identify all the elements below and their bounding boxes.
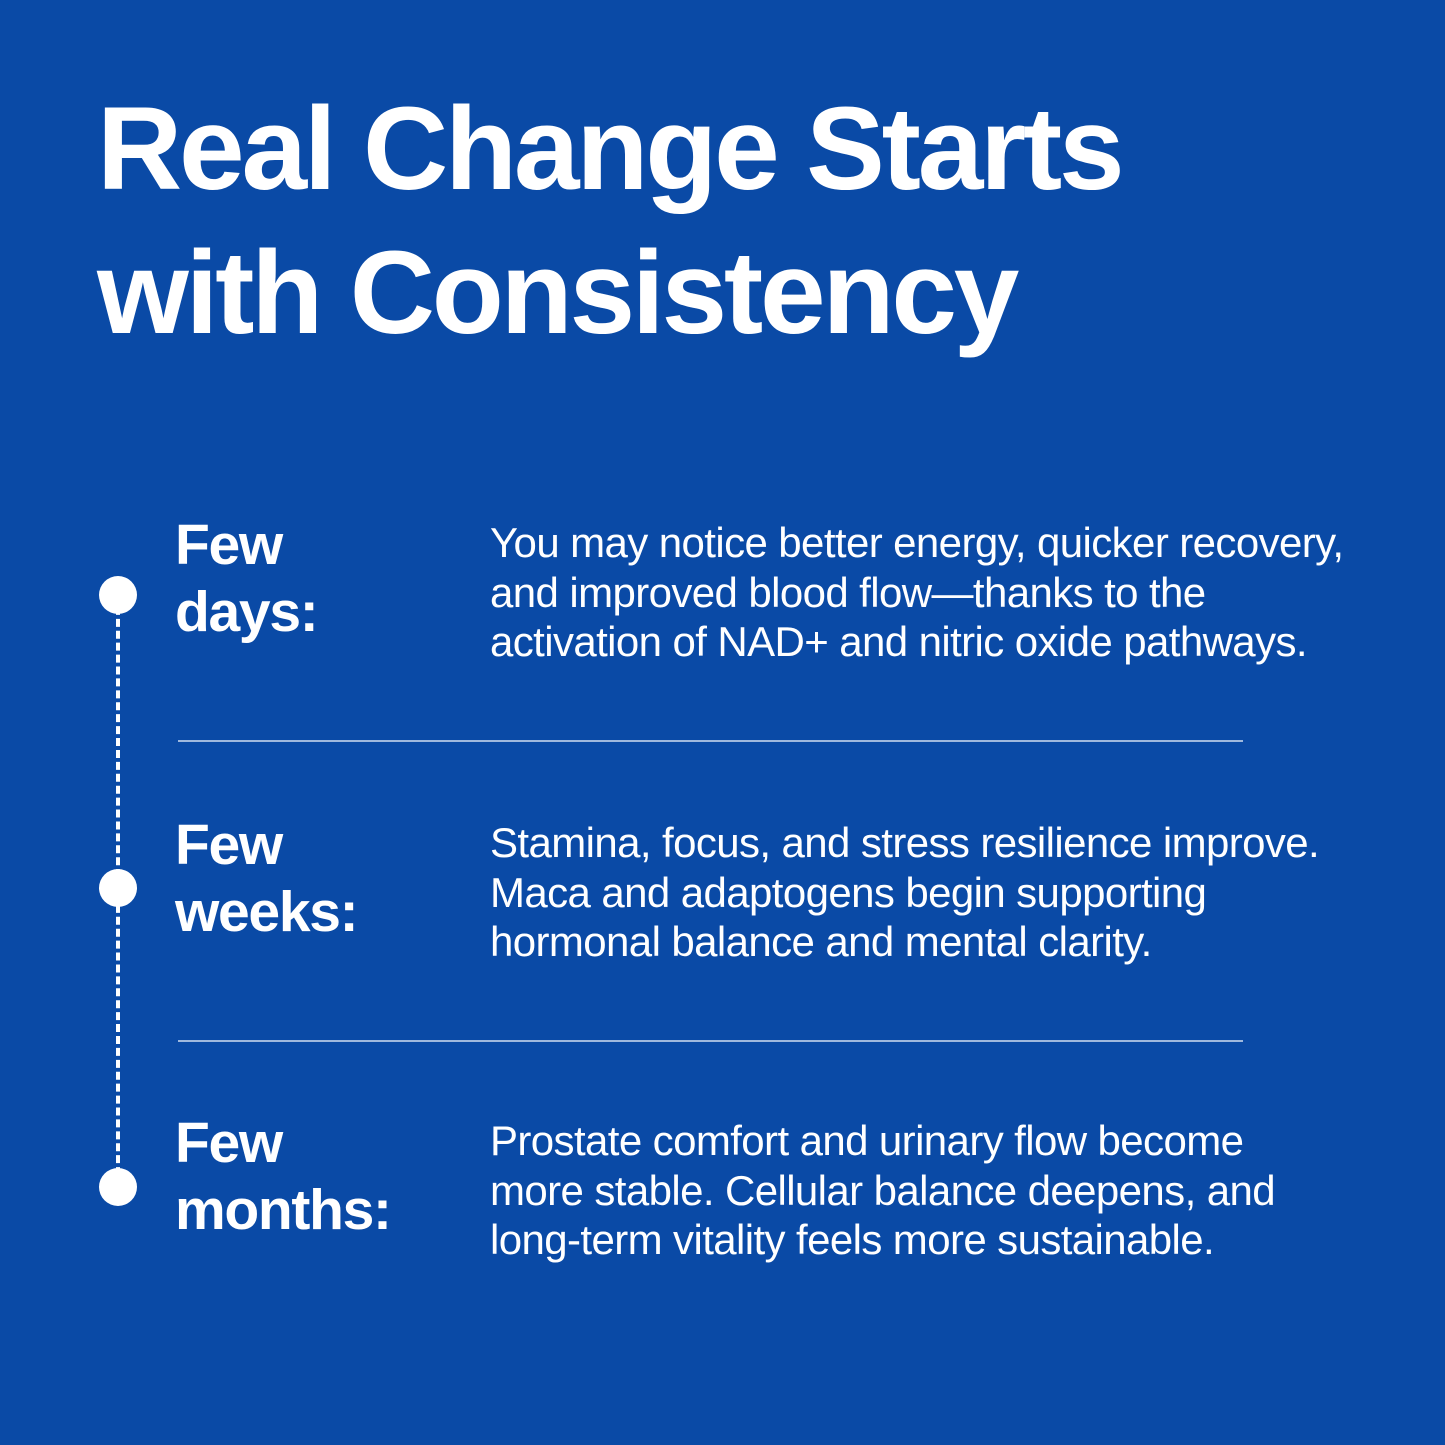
timeline-item-label: Few weeks: [175, 812, 490, 945]
timeline-item-weeks: Few weeks: Stamina, focus, and stress re… [175, 812, 1355, 967]
timeline-item-description: Prostate comfort and urinary flow become… [490, 1110, 1355, 1265]
timeline-item-days: Few days: You may notice better energy, … [175, 512, 1355, 667]
timeline-list: Few days: You may notice better energy, … [0, 0, 1445, 1445]
timeline-item-label: Few months: [175, 1110, 490, 1243]
timeline-item-description: Stamina, focus, and stress resilience im… [490, 812, 1355, 967]
timeline-divider [178, 1040, 1243, 1042]
timeline-item-label: Few days: [175, 512, 490, 645]
timeline-item-months: Few months: Prostate comfort and urinary… [175, 1110, 1355, 1265]
promo-poster: Real Change Starts with Consistency Few … [0, 0, 1445, 1445]
timeline-divider [178, 740, 1243, 742]
timeline-item-description: You may notice better energy, quicker re… [490, 512, 1355, 667]
